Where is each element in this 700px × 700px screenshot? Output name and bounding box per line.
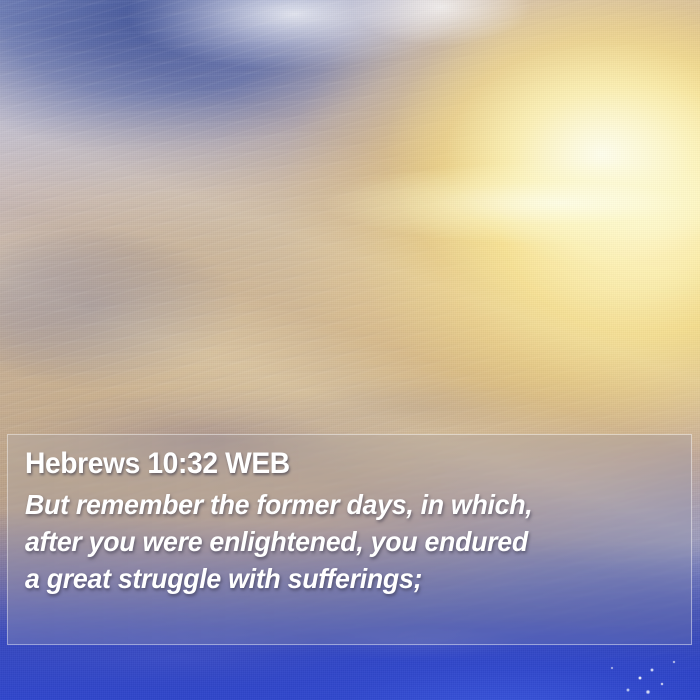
verse-content: Hebrews 10:32 WEB But remember the forme… (25, 447, 675, 597)
verse-text-line-3: a great struggle with sufferings; (25, 560, 646, 597)
verse-text-line-2: after you were enlightened, you endured (25, 523, 646, 560)
verse-image: Hebrews 10:32 WEB But remember the forme… (0, 0, 700, 700)
verse-text-line-1: But remember the former days, in which, (25, 486, 646, 523)
verse-overlay-panel: Hebrews 10:32 WEB But remember the forme… (7, 434, 692, 645)
verse-reference: Hebrews 10:32 WEB (25, 447, 636, 481)
verse-text: But remember the former days, in which, … (25, 486, 646, 597)
